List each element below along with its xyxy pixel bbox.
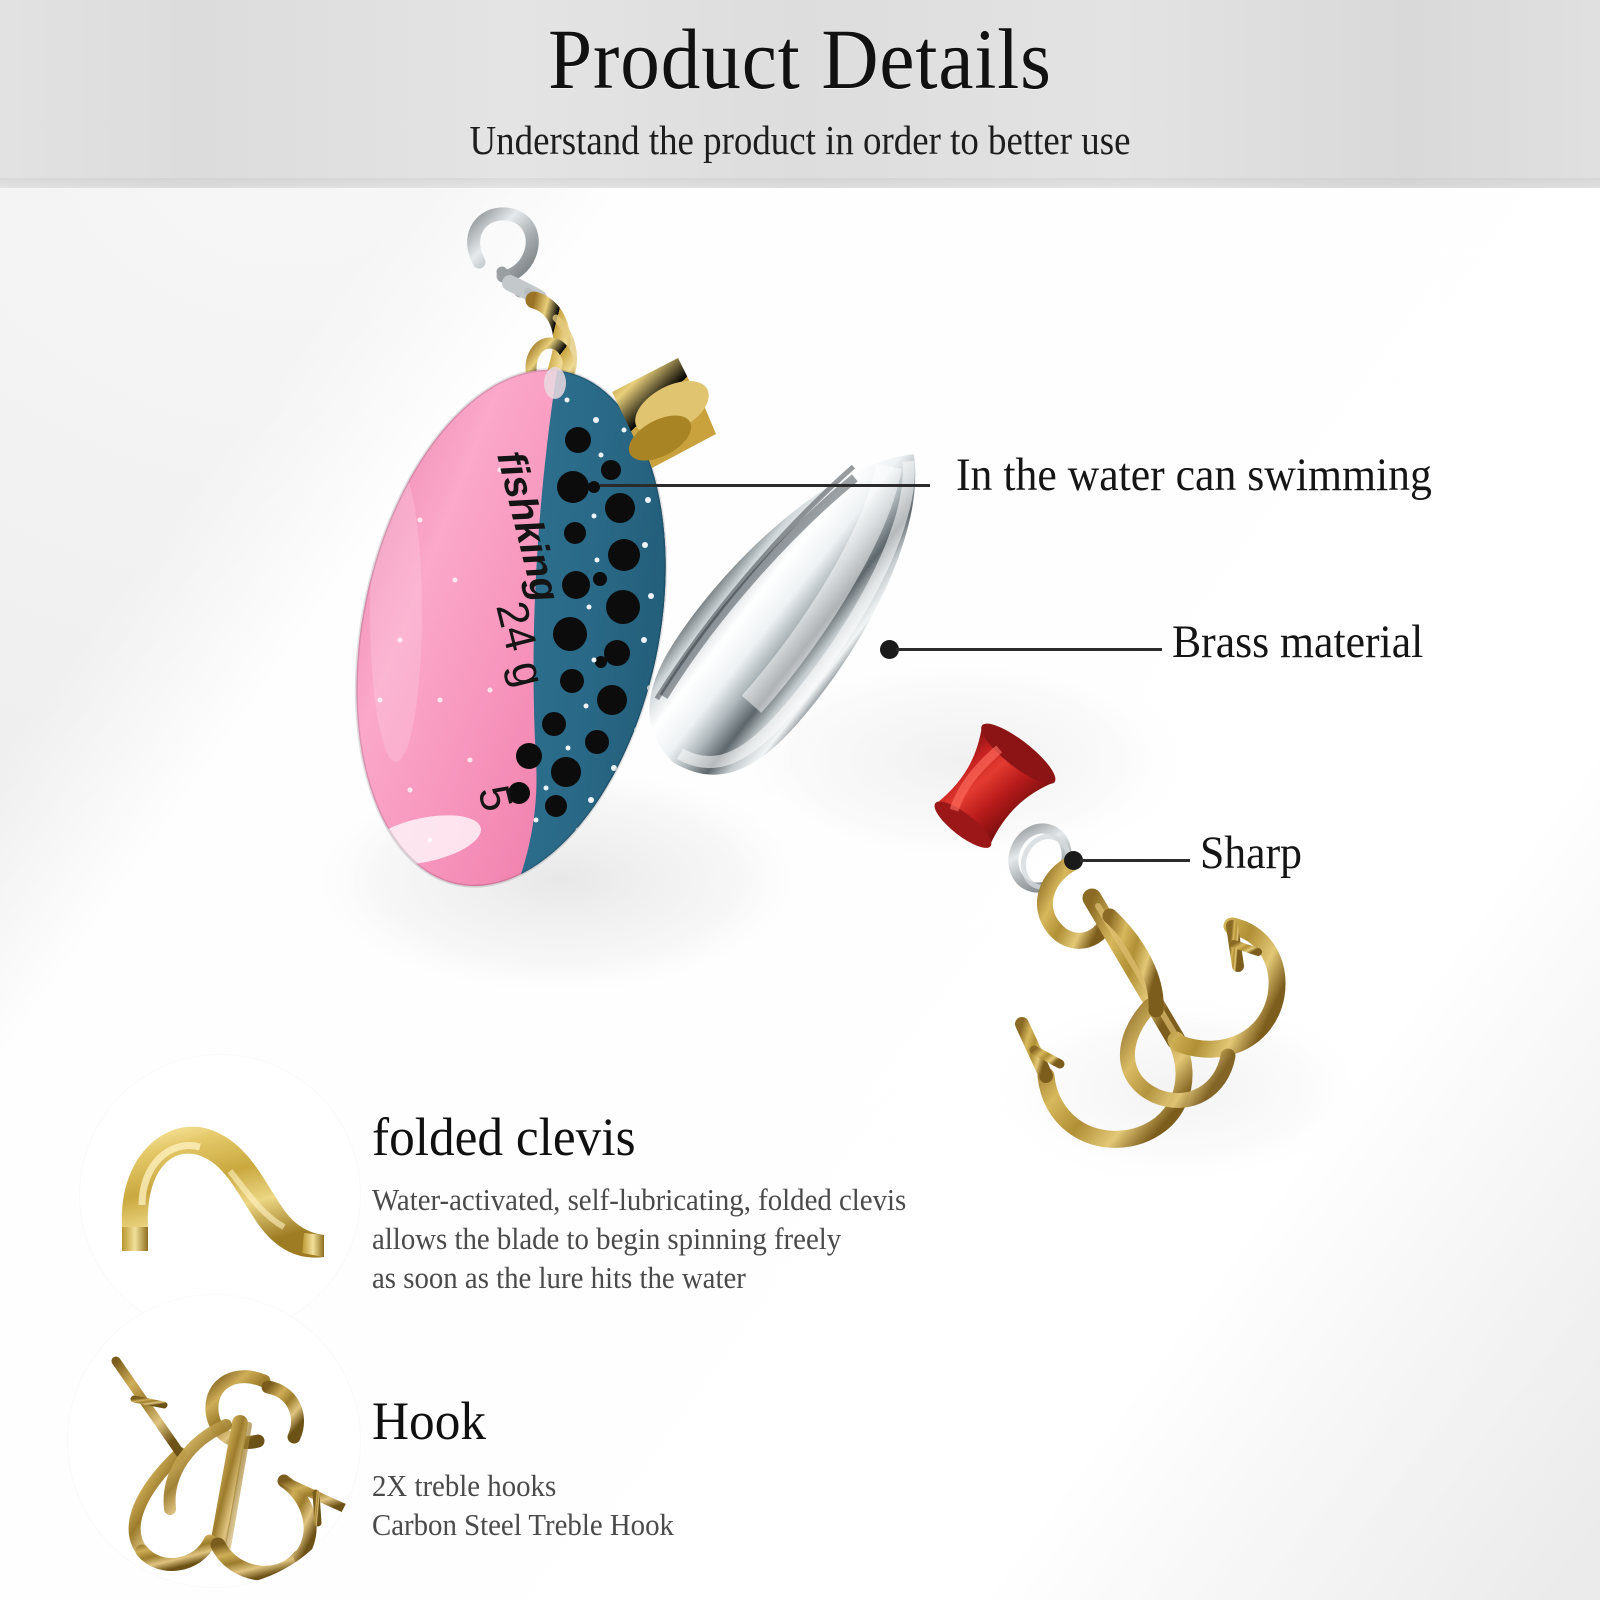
product-details-page: Product Details Understand the product i… xyxy=(0,0,1600,1600)
leader-line-brass xyxy=(896,648,1162,651)
leader-line-sharp xyxy=(1080,859,1190,862)
page-subtitle: Understand the product in order to bette… xyxy=(80,113,1520,167)
callout-label-brass: Brass material xyxy=(1172,611,1423,673)
feature-body-folded-clevis: Water-activated, self-lubricating, folde… xyxy=(372,1180,906,1297)
callout-label-sharp: Sharp xyxy=(1200,822,1302,884)
page-title: Product Details xyxy=(64,8,1536,110)
feature-title-folded-clevis: folded clevis xyxy=(372,1104,636,1170)
feature-body-hook: 2X treble hooks Carbon Steel Treble Hook xyxy=(372,1466,674,1544)
feature-title-hook: Hook xyxy=(372,1388,486,1454)
inset-circle-folded-clevis xyxy=(80,1055,360,1335)
folded-clevis-icon xyxy=(80,1055,360,1335)
treble-hook-icon xyxy=(68,1295,360,1587)
inset-circle-hook xyxy=(68,1295,360,1587)
leader-line-swimming xyxy=(600,484,930,487)
callout-label-swimming: In the water can swimming xyxy=(956,444,1432,506)
